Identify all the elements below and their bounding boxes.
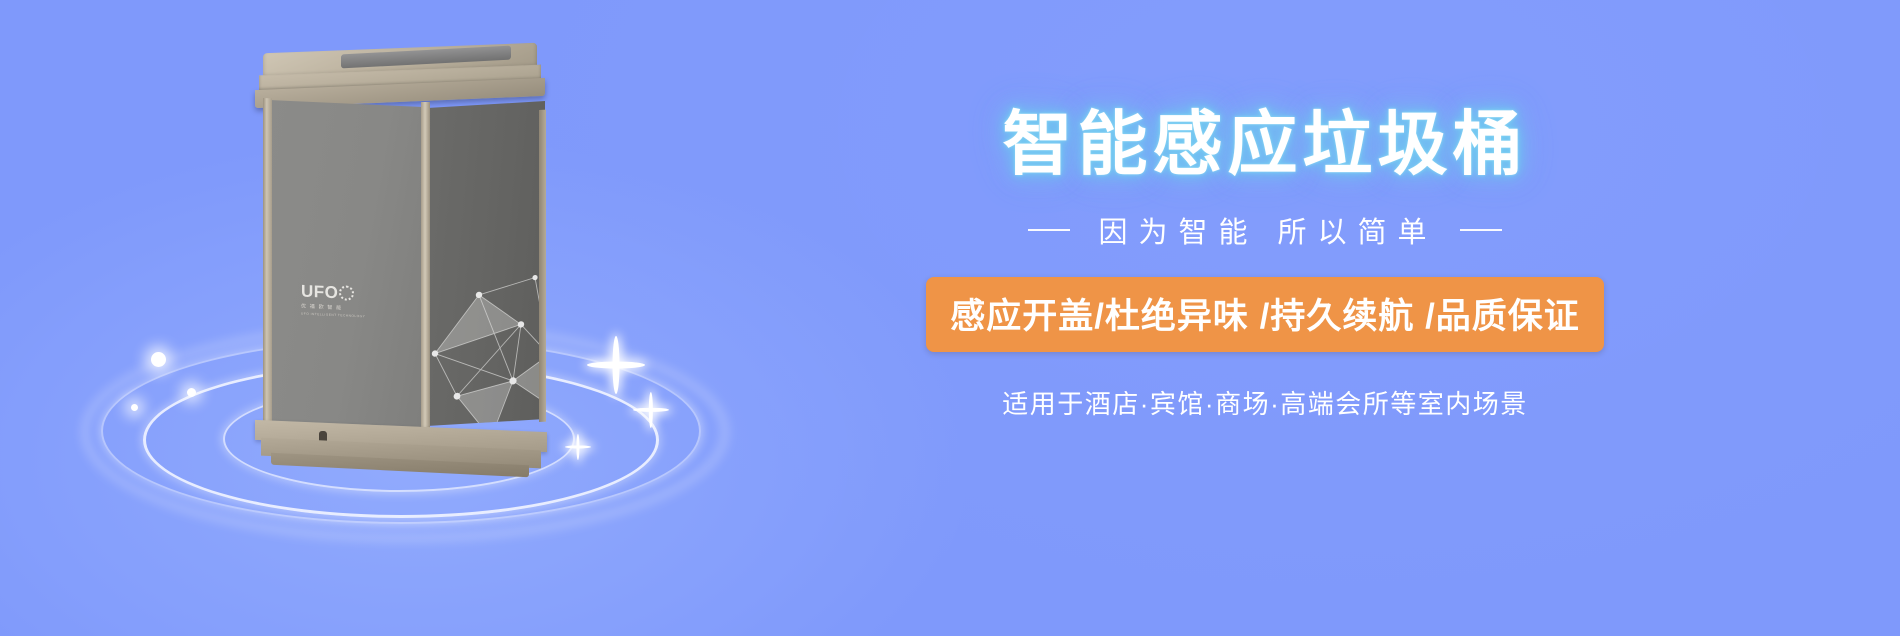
logo-wordmark: UFO — [301, 283, 367, 303]
smart-trash-bin: UFO 优 福 欧 智 能 UFO INTELLIGENT TECHNOLOGY — [245, 48, 555, 468]
subtitle-line: 因为智能 所以简单 — [735, 209, 1795, 251]
subtitle-text: 因为智能 所以简单 — [1092, 209, 1437, 251]
bin-panel-right — [427, 101, 545, 426]
sparkle-dot-small — [187, 388, 196, 397]
bin-edge-left — [263, 98, 272, 434]
logo-mark-text: UFO — [301, 283, 338, 302]
logo-english-text: UFO INTELLIGENT TECHNOLOGY — [301, 312, 367, 319]
feature-badge: 感应开盖/杜绝异味 /持久续航 /品质保证 — [926, 277, 1604, 352]
dash-left-icon — [1028, 229, 1070, 231]
product-illustration: UFO 优 福 欧 智 能 UFO INTELLIGENT TECHNOLOGY — [95, 40, 735, 510]
page-title: 智能感应垃圾桶 — [735, 95, 1795, 179]
bin-edge-center — [421, 102, 430, 432]
ufo-brand-logo: UFO 优 福 欧 智 能 UFO INTELLIGENT TECHNOLOGY — [301, 283, 367, 330]
sparkle-dot-tiny — [131, 404, 138, 411]
product-banner: UFO 优 福 欧 智 能 UFO INTELLIGENT TECHNOLOGY… — [0, 0, 1900, 636]
bin-panel-left — [269, 100, 427, 439]
marketing-copy-block: 智能感应垃圾桶 因为智能 所以简单 感应开盖/杜绝异味 /持久续航 /品质保证 … — [735, 95, 1795, 515]
dash-right-icon — [1460, 229, 1502, 231]
polygon-mesh-graphic — [427, 250, 545, 426]
sparkle-dot-left — [151, 352, 166, 367]
bin-edge-right — [539, 110, 546, 422]
usage-caption: 适用于酒店·宾馆·商场·高端会所等室内场景 — [735, 384, 1795, 421]
feature-badge-wrap: 感应开盖/杜绝异味 /持久续航 /品质保证 — [735, 277, 1795, 352]
logo-ring-icon — [339, 285, 354, 301]
